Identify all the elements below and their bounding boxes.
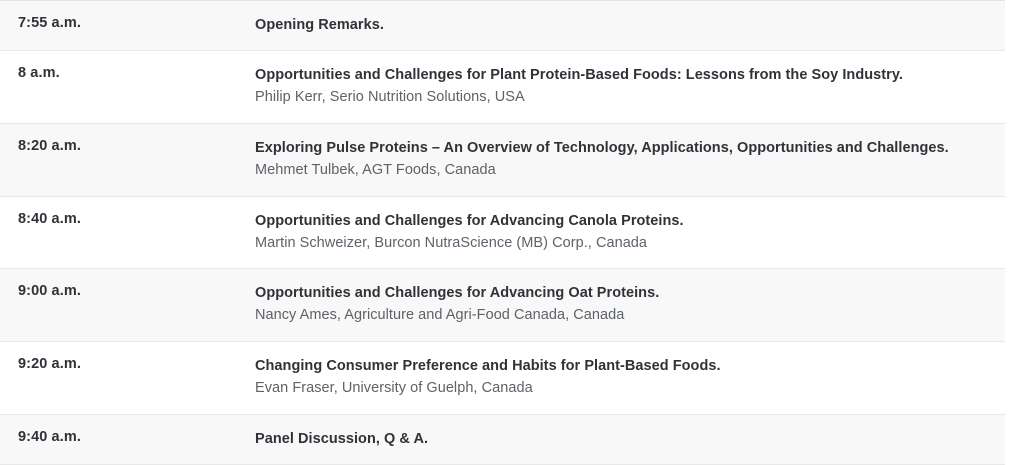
session-speaker: Nancy Ames, Agriculture and Agri-Food Ca… <box>255 305 995 327</box>
table-row: 9:00 a.m. Opportunities and Challenges f… <box>0 269 1005 342</box>
session-title: Opportunities and Challenges for Advanci… <box>255 283 995 304</box>
table-row: 9:40 a.m. Panel Discussion, Q & A. <box>0 414 1005 464</box>
session-time: 8 a.m. <box>0 51 240 124</box>
session-speaker: Philip Kerr, Serio Nutrition Solutions, … <box>255 87 995 109</box>
session-time: 9:00 a.m. <box>0 269 240 342</box>
table-row: 8:40 a.m. Opportunities and Challenges f… <box>0 196 1005 269</box>
session-time: 8:20 a.m. <box>0 123 240 196</box>
session-time: 7:55 a.m. <box>0 1 240 51</box>
table-row: 9:20 a.m. Changing Consumer Preference a… <box>0 342 1005 415</box>
session-details: Exploring Pulse Proteins – An Overview o… <box>240 123 1005 196</box>
session-title: Opening Remarks. <box>255 15 995 36</box>
conference-schedule-table: 7:55 a.m. Opening Remarks. 8 a.m. Opport… <box>0 0 1005 465</box>
session-details: Changing Consumer Preference and Habits … <box>240 342 1005 415</box>
schedule-table-body: 7:55 a.m. Opening Remarks. 8 a.m. Opport… <box>0 1 1005 465</box>
session-time: 8:40 a.m. <box>0 196 240 269</box>
session-title: Exploring Pulse Proteins – An Overview o… <box>255 138 995 159</box>
session-details: Opening Remarks. <box>240 1 1005 51</box>
session-title: Opportunities and Challenges for Plant P… <box>255 65 995 86</box>
session-time: 9:40 a.m. <box>0 414 240 464</box>
session-title: Opportunities and Challenges for Advanci… <box>255 211 995 232</box>
table-row: 8 a.m. Opportunities and Challenges for … <box>0 51 1005 124</box>
session-title: Changing Consumer Preference and Habits … <box>255 356 995 377</box>
session-title: Panel Discussion, Q & A. <box>255 429 995 450</box>
session-time: 9:20 a.m. <box>0 342 240 415</box>
session-speaker: Evan Fraser, University of Guelph, Canad… <box>255 378 995 400</box>
session-details: Opportunities and Challenges for Advanci… <box>240 196 1005 269</box>
table-row: 7:55 a.m. Opening Remarks. <box>0 1 1005 51</box>
table-row: 8:20 a.m. Exploring Pulse Proteins – An … <box>0 123 1005 196</box>
session-details: Opportunities and Challenges for Plant P… <box>240 51 1005 124</box>
session-details: Opportunities and Challenges for Advanci… <box>240 269 1005 342</box>
session-speaker: Mehmet Tulbek, AGT Foods, Canada <box>255 160 995 182</box>
session-speaker: Martin Schweizer, Burcon NutraScience (M… <box>255 233 995 255</box>
session-details: Panel Discussion, Q & A. <box>240 414 1005 464</box>
